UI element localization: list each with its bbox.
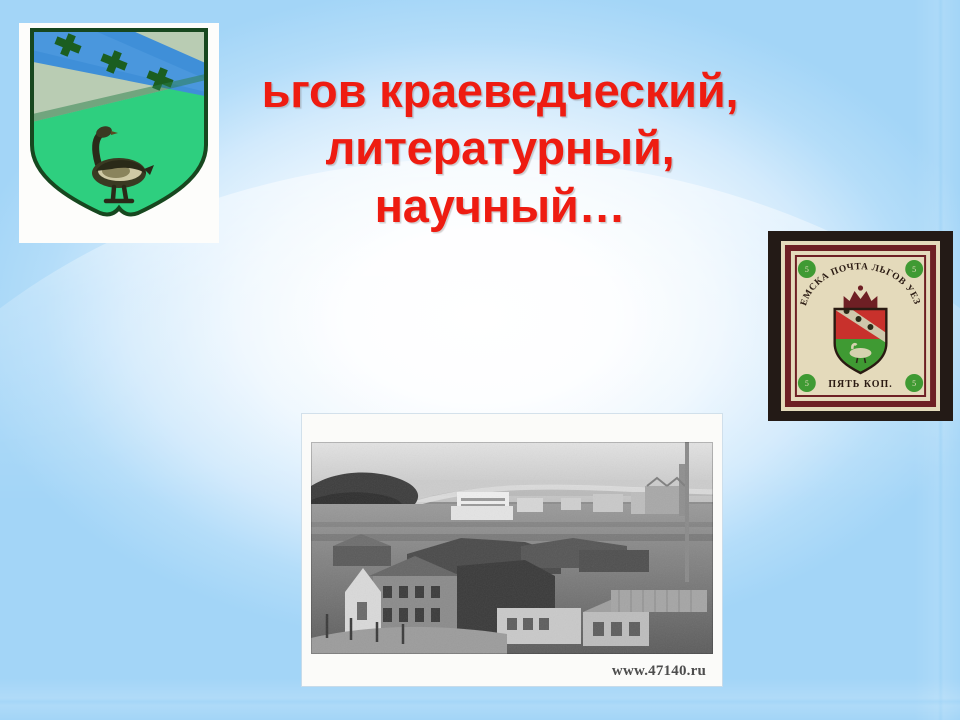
svg-text:5: 5 (912, 265, 916, 274)
svg-text:5: 5 (912, 379, 916, 388)
slide-title: ьгов краеведческий, литературный, научны… (150, 62, 850, 234)
svg-text:5: 5 (805, 379, 809, 388)
coat-of-arms-icon (28, 27, 210, 223)
slide-canvas: ьгов краеведческий, литературный, научны… (0, 0, 960, 720)
postage-stamp-image: 5 5 5 5 ЗЕМСКА ПОЧТА ЛЬГОВ УЕЗД (768, 231, 953, 421)
photo-watermark: www.47140.ru (302, 663, 706, 680)
svg-text:ПЯТЬ КОП.: ПЯТЬ КОП. (828, 379, 892, 390)
coat-of-arms-image (19, 23, 219, 243)
town-panorama-image (311, 442, 713, 654)
photo-frame: www.47140.ru (302, 414, 722, 686)
svg-text:5: 5 (805, 265, 809, 274)
postage-stamp-icon: 5 5 5 5 ЗЕМСКА ПОЧТА ЛЬГОВ УЕЗД (781, 241, 940, 411)
